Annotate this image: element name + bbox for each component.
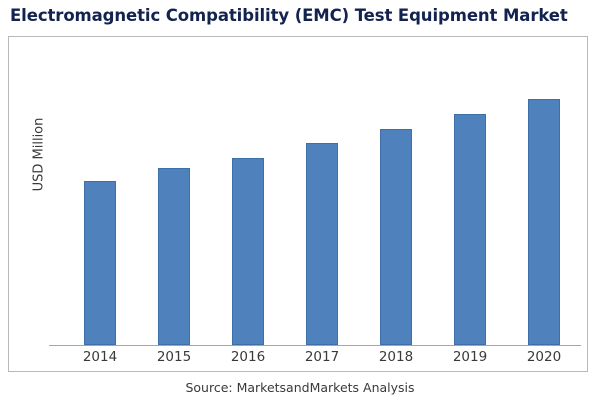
x-tick-label-2016: 2016	[211, 349, 285, 365]
chart-figure: Electromagnetic Compatibility (EMC) Test…	[0, 0, 600, 408]
x-axis-tick-labels: 2014201520162017201820192020	[49, 349, 581, 371]
x-tick-label-2019: 2019	[433, 349, 507, 365]
bar-slot	[211, 41, 285, 345]
bar-series	[49, 41, 581, 345]
bar-slot	[63, 41, 137, 345]
bar-2020[interactable]	[528, 99, 560, 345]
x-tick-label-2014: 2014	[63, 349, 137, 365]
page-title: Electromagnetic Compatibility (EMC) Test…	[10, 6, 590, 25]
bar-slot	[507, 41, 581, 345]
x-tick-label-2015: 2015	[137, 349, 211, 365]
bar-slot	[137, 41, 211, 345]
bar-2016[interactable]	[232, 158, 264, 345]
plot-frame: USD Million 2014201520162017201820192020	[8, 36, 588, 372]
bar-2017[interactable]	[306, 143, 338, 345]
bar-2015[interactable]	[158, 168, 190, 345]
bar-2018[interactable]	[380, 129, 412, 345]
bar-slot	[433, 41, 507, 345]
category-axis-line	[49, 345, 581, 346]
source-note: Source: MarketsandMarkets Analysis	[0, 380, 600, 395]
bar-slot	[285, 41, 359, 345]
x-tick-label-2020: 2020	[507, 349, 581, 365]
y-axis-title: USD Million	[32, 95, 47, 215]
x-tick-label-2018: 2018	[359, 349, 433, 365]
plot-area	[49, 41, 581, 346]
bar-2019[interactable]	[454, 114, 486, 345]
x-tick-label-2017: 2017	[285, 349, 359, 365]
bar-2014[interactable]	[84, 181, 116, 345]
bar-slot	[359, 41, 433, 345]
